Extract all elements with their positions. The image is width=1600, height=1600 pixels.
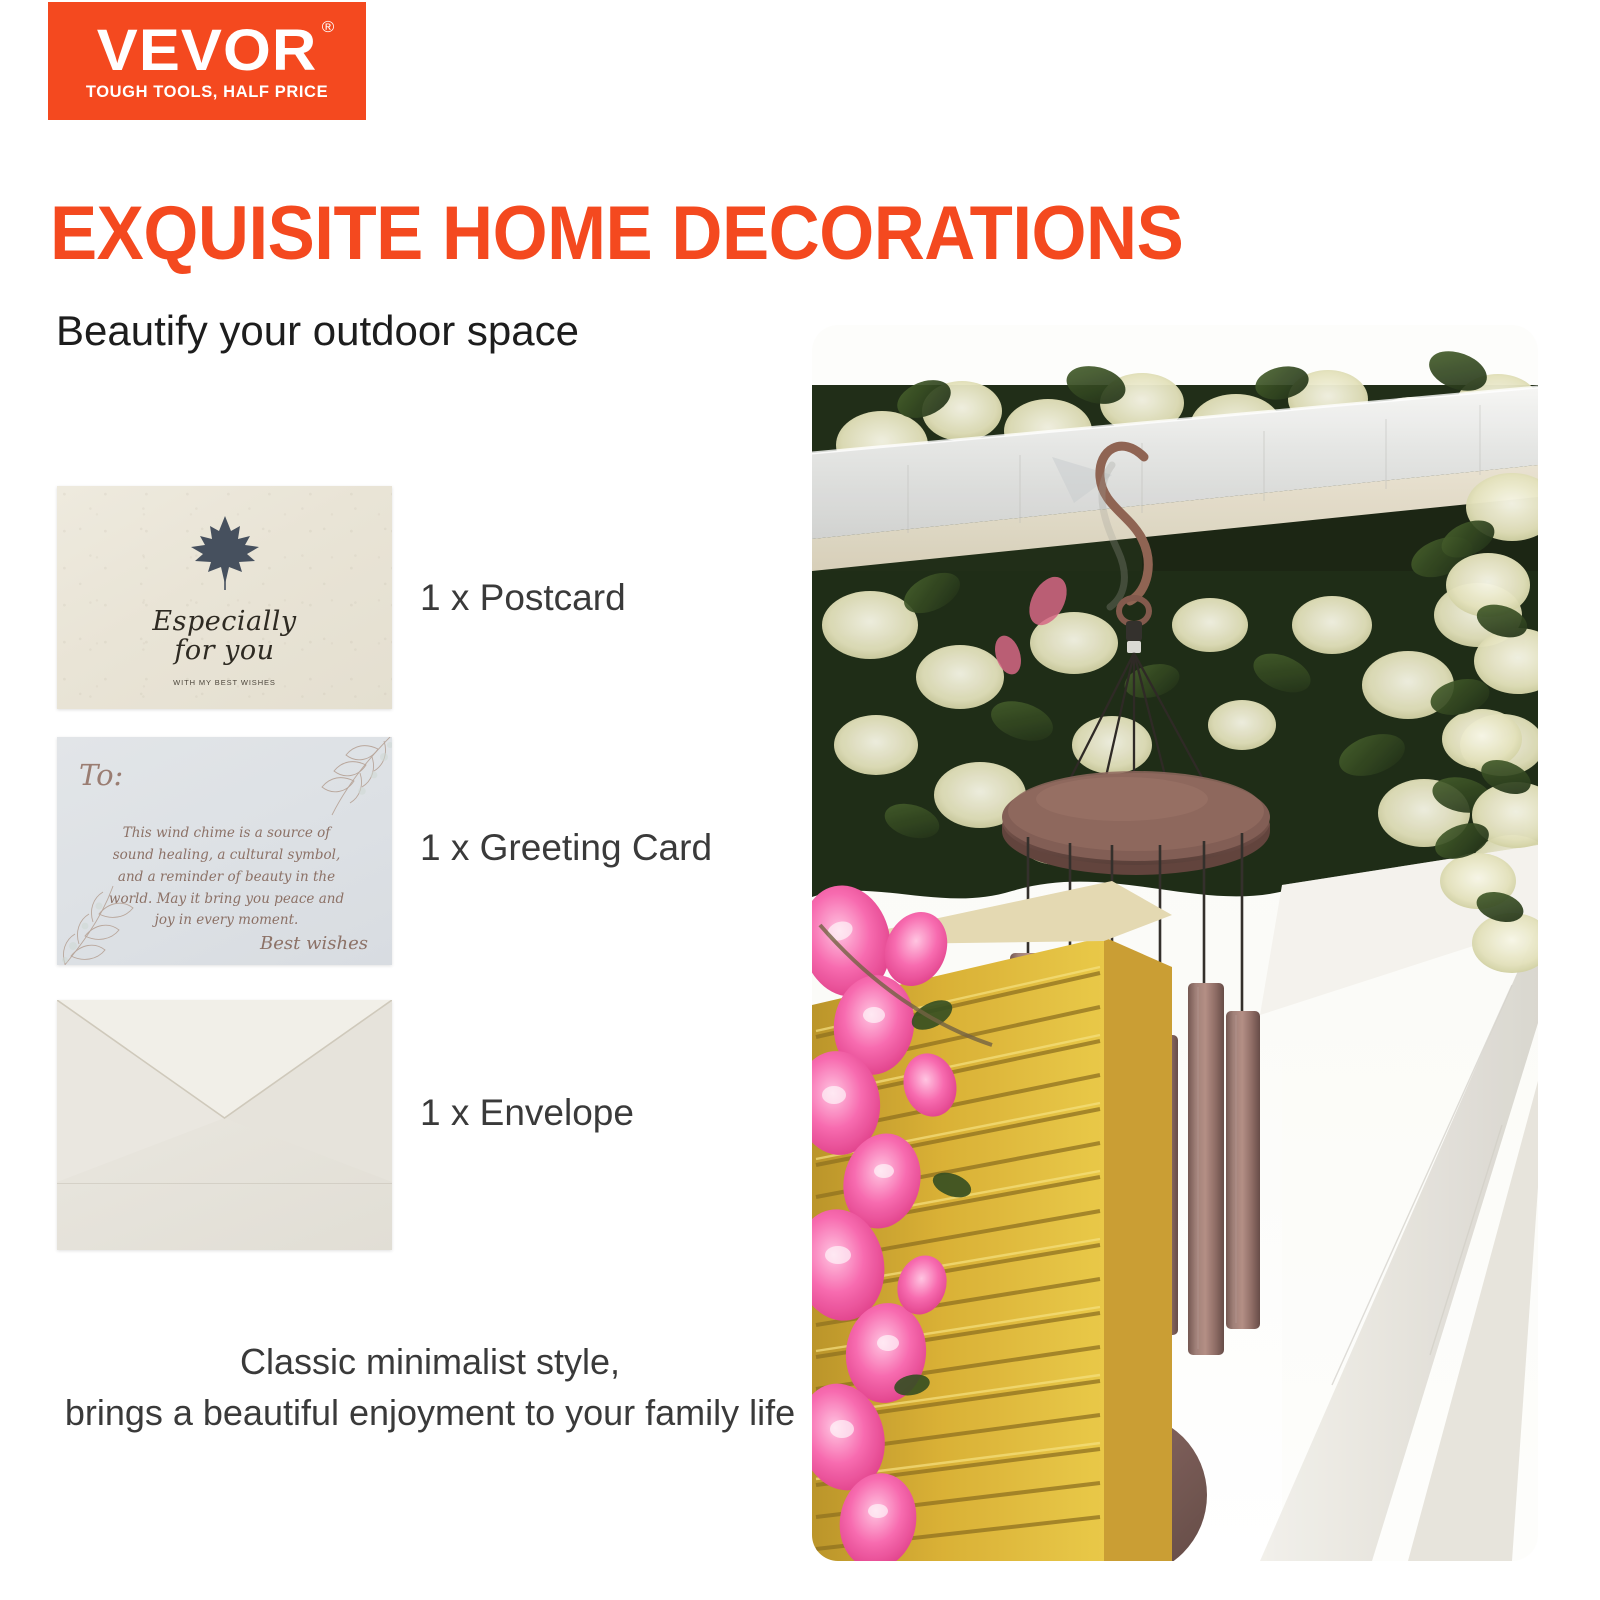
page-subtitle: Beautify your outdoor space	[56, 306, 579, 356]
maple-leaf-icon	[189, 514, 261, 592]
greeting-card-signoff: Best wishes	[260, 935, 368, 953]
item-label-postcard: 1 x Postcard	[420, 579, 626, 616]
envelope-flap-icon	[57, 1000, 392, 1182]
postcard-script-text: Especially for you	[57, 607, 392, 665]
registered-trademark-icon: ®	[322, 20, 336, 36]
postcard-script-line-2: for you	[57, 636, 392, 665]
envelope-crease	[57, 1183, 392, 1184]
item-label-envelope: 1 x Envelope	[420, 1094, 634, 1131]
bottom-caption-line-2: brings a beautiful enjoyment to your fam…	[40, 1387, 820, 1438]
item-label-greeting-card: 1 x Greeting Card	[420, 829, 712, 866]
brand-wordmark: VEVOR ®	[97, 22, 318, 80]
greeting-card-image: To: This wind chime is a source of sound…	[57, 737, 392, 965]
postcard-image: Especially for you WITH MY BEST WISHES	[57, 486, 392, 709]
bottom-caption-line-1: Classic minimalist style,	[40, 1336, 820, 1387]
greeting-card-to-label: To:	[79, 761, 123, 790]
wind-chime-scene-image	[812, 325, 1538, 1561]
vevor-logo: VEVOR ® TOUGH TOOLS, HALF PRICE	[48, 2, 366, 120]
brand-wordmark-text: VEVOR	[97, 18, 318, 83]
product-photo	[812, 325, 1538, 1561]
brand-tagline: TOUGH TOOLS, HALF PRICE	[86, 84, 328, 101]
postcard-footer-text: WITH MY BEST WISHES	[57, 678, 392, 687]
page-title: EXQUISITE HOME DECORATIONS	[50, 196, 1183, 272]
postcard-script-line-1: Especially	[57, 607, 392, 636]
bottom-caption: Classic minimalist style, brings a beaut…	[40, 1336, 820, 1438]
envelope-image	[57, 1000, 392, 1250]
greeting-card-message: This wind chime is a source of sound hea…	[101, 823, 352, 932]
